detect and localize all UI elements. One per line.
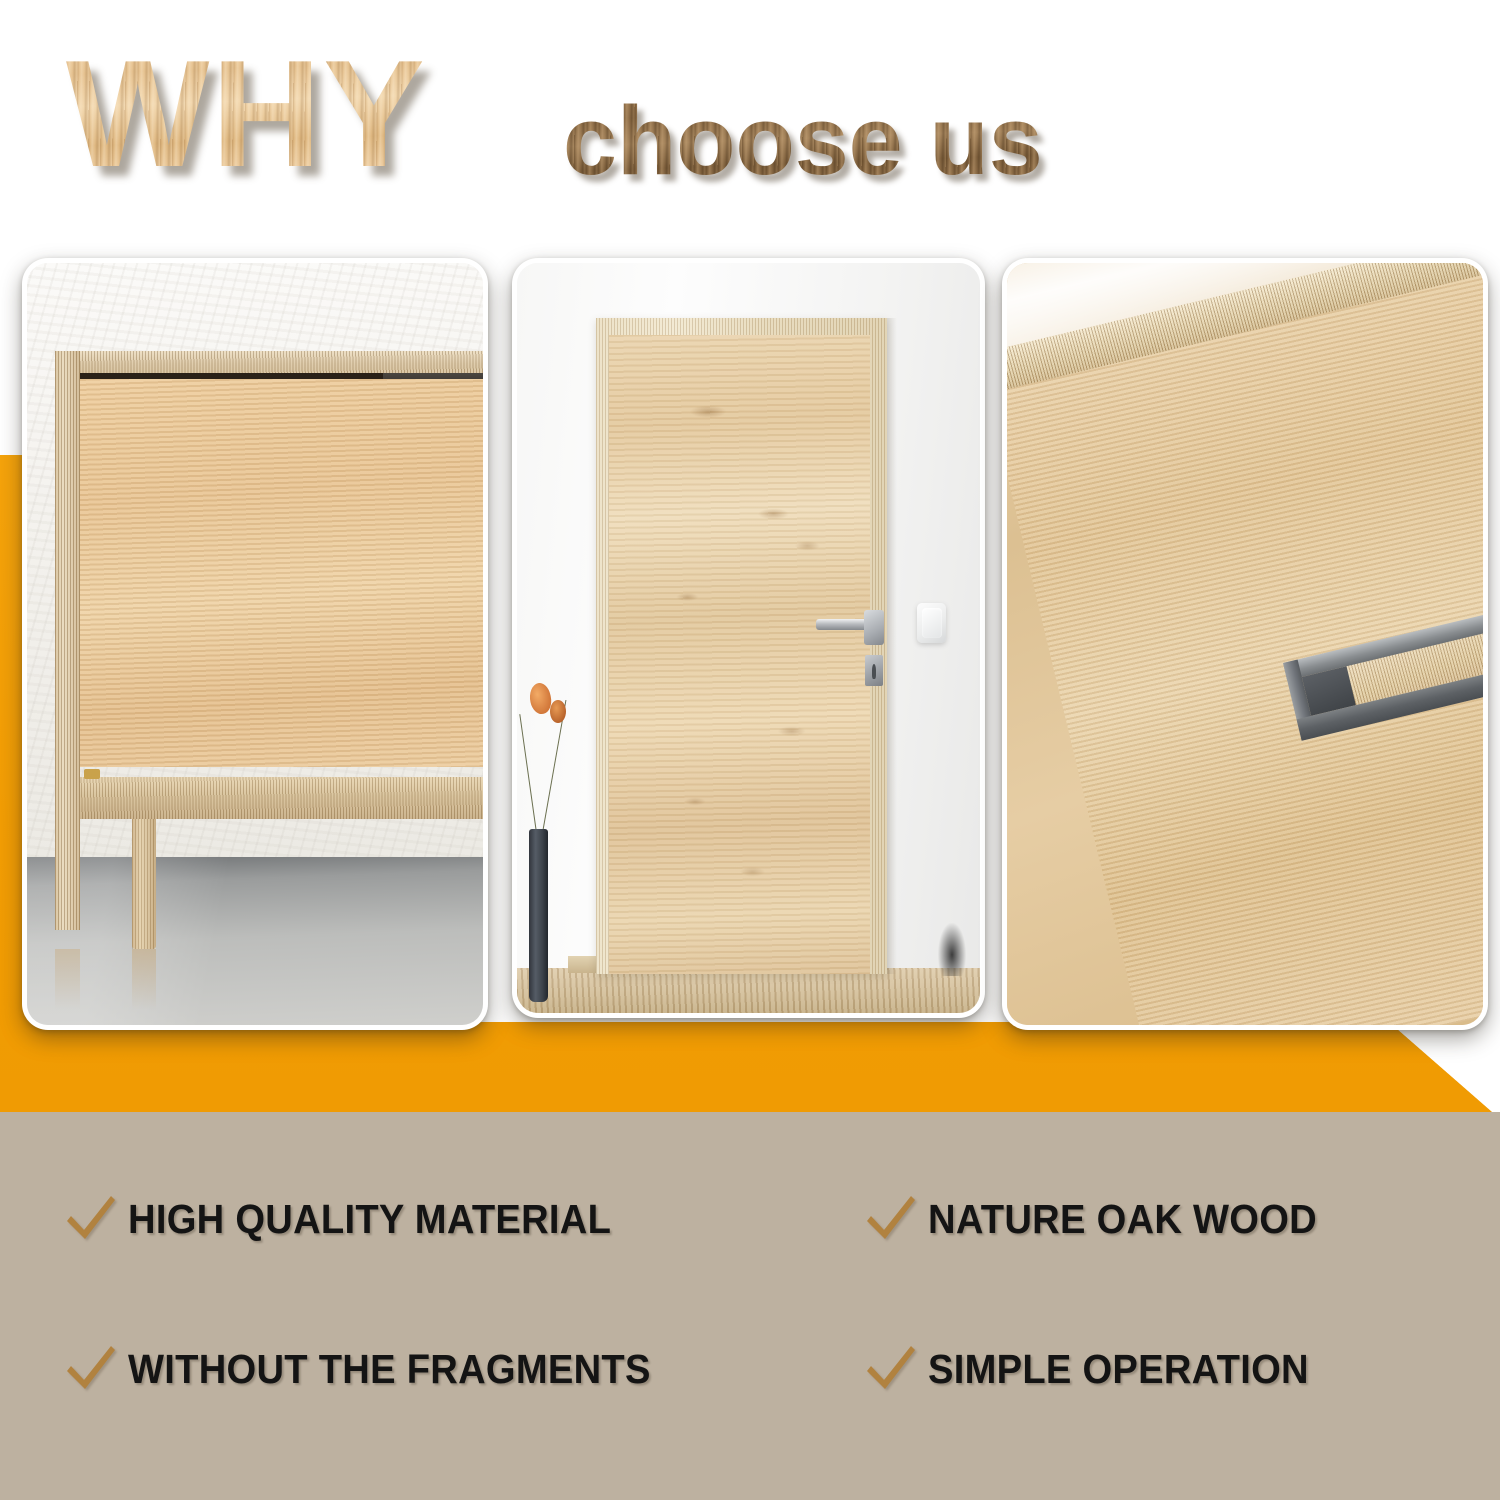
photo-card-interior-door[interactable] — [512, 258, 985, 1018]
headline-primary-word: WHY — [66, 38, 427, 190]
check-icon — [62, 1190, 120, 1248]
features-footer: HIGH QUALITY MATERIAL NATURE OAK WOOD WI… — [0, 1112, 1500, 1500]
check-icon — [862, 1340, 920, 1398]
feature-item-high-quality-material: HIGH QUALITY MATERIAL — [62, 1190, 648, 1248]
check-icon — [62, 1340, 120, 1398]
photo-card-interior-door-image — [517, 263, 980, 1013]
feature-item-simple-operation: SIMPLE OPERATION — [862, 1340, 1338, 1398]
wood-floor — [517, 968, 980, 1013]
photo-card-drawer-edge-image — [1007, 263, 1483, 1025]
feature-label: HIGH QUALITY MATERIAL — [128, 1197, 611, 1241]
concrete-floor — [27, 857, 483, 1025]
cabinet-door-panel — [79, 379, 483, 768]
cabinet-bottom-rail — [79, 777, 483, 819]
photo-card-drawer-edge[interactable] — [1002, 258, 1488, 1030]
cabinet-brass-knob — [84, 769, 100, 779]
check-icon — [862, 1190, 920, 1248]
dark-vase — [529, 829, 548, 1002]
cabinet-leg — [132, 819, 156, 949]
headline: WHY choose us — [0, 0, 1500, 230]
door-panel — [609, 335, 871, 974]
cabinet-left-post — [55, 351, 80, 930]
feature-item-without-the-fragments: WITHOUT THE FRAGMENTS — [62, 1340, 690, 1398]
feature-item-nature-oak-wood: NATURE OAK WOOD — [862, 1190, 1346, 1248]
floor-object-shadow — [938, 923, 966, 976]
door-keyhole — [872, 664, 877, 679]
door-handle-rose — [864, 610, 883, 645]
features-list: HIGH QUALITY MATERIAL NATURE OAK WOOD WI… — [0, 1112, 1500, 1500]
headline-secondary-words: choose us — [563, 92, 1043, 189]
photo-card-nightstand-image — [27, 263, 483, 1025]
dried-flower — [550, 700, 566, 723]
photo-card-nightstand[interactable] — [22, 258, 488, 1030]
light-switch — [917, 603, 946, 644]
feature-label: SIMPLE OPERATION — [928, 1347, 1309, 1391]
feature-label: WITHOUT THE FRAGMENTS — [128, 1347, 651, 1391]
door-shadow — [887, 318, 896, 974]
leg-reflection — [132, 949, 156, 1010]
post-reflection — [55, 949, 80, 1010]
promo-banner: WHY choose us HIGH QUALITY MATERIAL — [0, 0, 1500, 1500]
feature-label: NATURE OAK WOOD — [928, 1197, 1317, 1241]
